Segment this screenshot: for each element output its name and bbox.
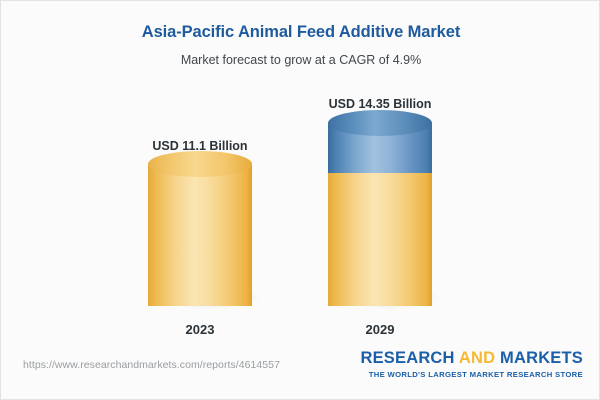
source-url[interactable]: https://www.researchandmarkets.com/repor… [23,359,280,371]
logo-tagline: THE WORLD'S LARGEST MARKET RESEARCH STOR… [360,370,583,379]
logo-word-and: AND [459,349,495,367]
cylinder-bar-2023[interactable] [148,164,252,306]
bar-segment-base-2023 [148,164,252,306]
bar-group-2029: USD 14.35 Billion 2029 [305,81,455,343]
chart-header: Asia-Pacific Animal Feed Additive Market… [1,1,600,68]
chart-footer: https://www.researchandmarkets.com/repor… [1,341,600,399]
category-label-2029: 2029 [305,322,455,337]
chart-card: Asia-Pacific Animal Feed Additive Market… [0,0,600,400]
segment-top-ellipse [148,151,252,177]
segment-body [148,164,252,306]
research-and-markets-logo[interactable]: RESEARCH AND MARKETS THE WORLD'S LARGEST… [360,349,583,379]
chart-plot-area: USD 11.1 Billion 2023 USD 14.35 Billion [1,81,600,343]
logo-word-research: RESEARCH [360,349,454,367]
bar-segment-growth-2029 [328,123,432,173]
logo-wordmark: RESEARCH AND MARKETS [360,349,583,367]
cylinder-bar-2029[interactable] [328,123,432,306]
segment-top-ellipse [328,110,432,136]
logo-word-markets: MARKETS [500,349,583,367]
bar-value-label-2029: USD 14.35 Billion [305,97,455,111]
category-label-2023: 2023 [125,322,275,337]
bar-group-2023: USD 11.1 Billion 2023 [125,81,275,343]
chart-title: Asia-Pacific Animal Feed Additive Market [1,23,600,43]
segment-body [328,173,432,306]
bar-segment-base-2029 [328,173,432,306]
chart-subtitle: Market forecast to grow at a CAGR of 4.9… [1,53,600,68]
